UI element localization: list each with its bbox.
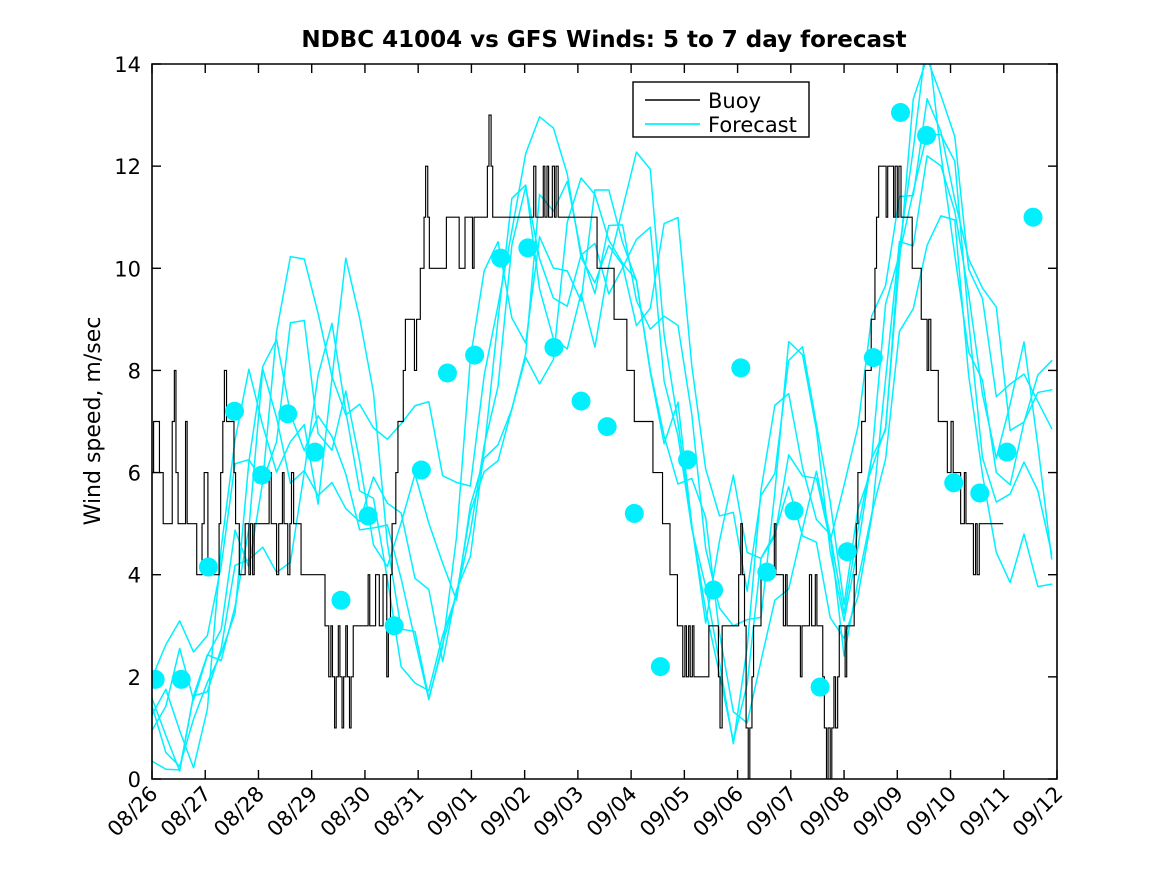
forecast-marker	[625, 504, 644, 523]
forecast-marker	[651, 657, 670, 676]
x-tick-label: 09/06	[688, 782, 748, 842]
x-tick-label: 09/03	[529, 782, 589, 842]
forecast-marker	[278, 404, 297, 423]
x-tick-label: 09/08	[795, 782, 855, 842]
y-tick-label: 14	[114, 53, 141, 77]
x-tick-label: 08/30	[316, 782, 376, 842]
forecast-marker	[491, 249, 510, 268]
forecast-marker	[944, 473, 963, 492]
forecast-marker	[385, 616, 404, 635]
forecast-marker	[731, 358, 750, 377]
forecast-marker	[252, 466, 271, 485]
wind-speed-chart: NDBC 41004 vs GFS Winds: 5 to 7 day fore…	[0, 0, 1167, 875]
forecast-marker	[891, 103, 910, 122]
forecast-marker	[146, 670, 165, 689]
y-axis-label: Wind speed, m/sec	[81, 317, 106, 526]
forecast-marker	[518, 238, 537, 257]
x-tick-label: 08/28	[209, 782, 269, 842]
x-tick-label: 09/07	[742, 782, 802, 842]
forecast-marker	[544, 338, 563, 357]
chart-title: NDBC 41004 vs GFS Winds: 5 to 7 day fore…	[301, 27, 906, 53]
forecast-marker	[838, 542, 857, 561]
chart-legend: Buoy Forecast	[633, 82, 809, 137]
y-tick-label: 2	[128, 666, 141, 690]
forecast-marker	[305, 443, 324, 462]
forecast-marker	[199, 558, 218, 577]
forecast-marker	[225, 402, 244, 421]
legend-label-forecast: Forecast	[708, 113, 797, 137]
forecast-marker	[172, 670, 191, 689]
forecast-marker	[678, 450, 697, 469]
y-tick-label: 6	[128, 462, 141, 486]
x-tick-label: 08/27	[156, 782, 216, 842]
forecast-marker	[572, 392, 591, 411]
forecast-marker	[438, 363, 457, 382]
forecast-marker	[785, 501, 804, 520]
forecast-marker	[359, 506, 378, 525]
legend-label-buoy: Buoy	[708, 89, 761, 113]
forecast-marker	[412, 461, 431, 480]
forecast-marker	[970, 484, 989, 503]
x-tick-label: 09/11	[955, 782, 1015, 842]
y-tick-label: 12	[114, 155, 141, 179]
x-tick-label: 09/01	[422, 782, 482, 842]
x-tick-label: 09/04	[582, 782, 642, 842]
x-tick-label: 08/31	[369, 782, 429, 842]
y-tick-label: 8	[128, 359, 141, 383]
x-tick-label: 09/02	[475, 782, 535, 842]
x-tick-label: 09/09	[848, 782, 908, 842]
y-tick-label: 4	[128, 564, 141, 588]
forecast-marker	[917, 126, 936, 145]
forecast-marker	[704, 581, 723, 600]
forecast-marker	[1024, 208, 1043, 227]
forecast-marker	[465, 346, 484, 365]
figure-canvas: NDBC 41004 vs GFS Winds: 5 to 7 day fore…	[0, 0, 1167, 875]
x-tick-label: 09/12	[1008, 782, 1068, 842]
forecast-marker	[864, 348, 883, 367]
y-tick-label: 10	[114, 257, 141, 281]
forecast-marker	[997, 443, 1016, 462]
forecast-marker	[598, 417, 617, 436]
x-tick-label: 09/10	[901, 782, 961, 842]
x-tick-label: 09/05	[635, 782, 695, 842]
forecast-marker	[811, 678, 830, 697]
forecast-marker	[331, 591, 350, 610]
forecast-marker	[757, 563, 776, 582]
x-tick-label: 08/29	[262, 782, 322, 842]
